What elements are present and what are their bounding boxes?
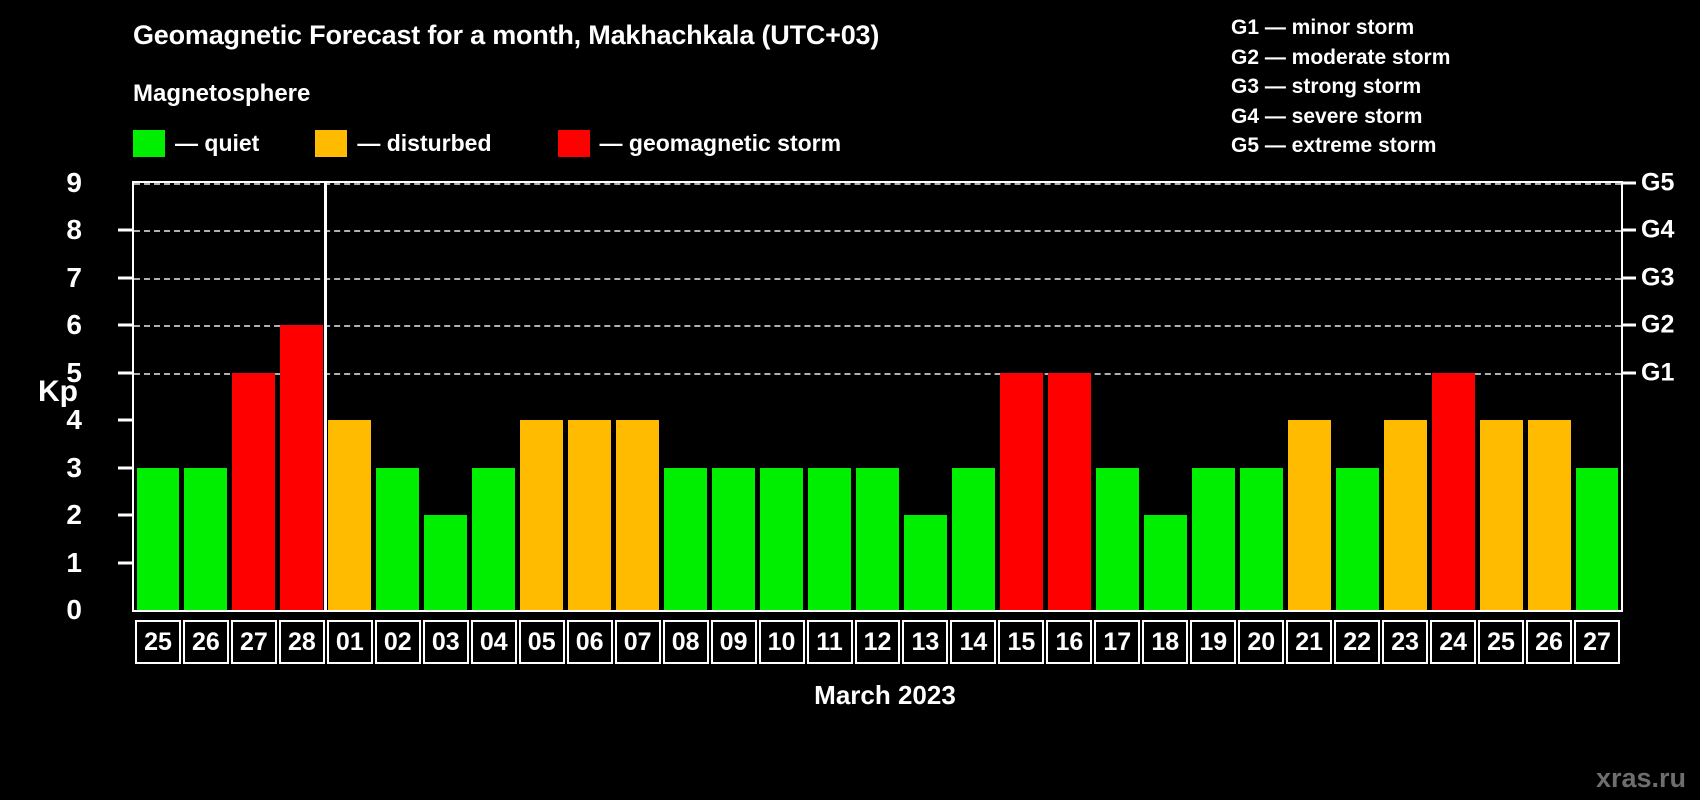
bar-02 <box>376 468 419 610</box>
bar-06 <box>568 420 611 610</box>
g-tick-label-G1: G1 <box>1641 358 1674 387</box>
date-label-3: 28 <box>279 620 325 664</box>
g-tick-label-G4: G4 <box>1641 216 1674 245</box>
date-label-17: 14 <box>950 620 996 664</box>
y-tick-label: 2 <box>42 499 82 531</box>
date-label-10: 07 <box>615 620 661 664</box>
date-label-29: 26 <box>1526 620 1572 664</box>
date-label-21: 18 <box>1142 620 1188 664</box>
legend-label-quiet: — quiet <box>175 130 259 157</box>
bar-05 <box>520 420 563 610</box>
bar-01 <box>328 420 371 610</box>
date-label-13: 10 <box>759 620 805 664</box>
y-tick-label: 0 <box>42 594 82 626</box>
magnetosphere-legend: — quiet — disturbed — geomagnetic storm <box>133 128 841 158</box>
bar-18 <box>1144 515 1187 610</box>
date-label-5: 02 <box>375 620 421 664</box>
y-tick-label: 1 <box>42 547 82 579</box>
y-tick-label: 9 <box>42 167 82 199</box>
bar-28 <box>280 325 323 610</box>
g-tick-mark <box>1623 229 1636 232</box>
y-tick-mark <box>118 419 132 422</box>
bar-07 <box>616 420 659 610</box>
gscale-legend-line: G5 — extreme storm <box>1231 131 1450 161</box>
x-axis-date-labels: 2526272801020304050607080910111213141516… <box>132 620 1623 664</box>
legend-label-disturbed: — disturbed <box>357 130 491 157</box>
date-label-30: 27 <box>1574 620 1620 664</box>
bar-17 <box>1096 468 1139 610</box>
y-tick-label: 3 <box>42 452 82 484</box>
date-label-14: 11 <box>807 620 853 664</box>
date-label-25: 22 <box>1334 620 1380 664</box>
bar-03 <box>424 515 467 610</box>
gscale-legend-line: G1 — minor storm <box>1231 13 1450 43</box>
y-tick-label: 5 <box>42 357 82 389</box>
date-label-18: 15 <box>998 620 1044 664</box>
page-title: Geomagnetic Forecast for a month, Makhac… <box>133 20 879 51</box>
date-label-28: 25 <box>1478 620 1524 664</box>
bar-22 <box>1336 468 1379 610</box>
g-tick-label-G5: G5 <box>1641 169 1674 198</box>
bar-14 <box>952 468 995 610</box>
g-tick-mark <box>1623 371 1636 374</box>
bar-10 <box>760 468 803 610</box>
date-label-23: 20 <box>1238 620 1284 664</box>
y-tick-label: 6 <box>42 309 82 341</box>
x-axis-title: March 2023 <box>0 680 1700 711</box>
bar-21 <box>1288 420 1331 610</box>
g-tick-label-G3: G3 <box>1641 263 1674 292</box>
bar-25 <box>137 468 180 610</box>
bar-25 <box>1480 420 1523 610</box>
plot-area <box>132 181 1623 612</box>
y-tick-mark <box>118 276 132 279</box>
g-tick-mark <box>1623 276 1636 279</box>
date-label-2: 27 <box>231 620 277 664</box>
legend-swatch-quiet-icon <box>133 130 165 157</box>
bar-19 <box>1192 468 1235 610</box>
legend-heading: Magnetosphere <box>133 80 310 108</box>
bar-26 <box>1528 420 1571 610</box>
y-tick-mark <box>118 466 132 469</box>
date-label-16: 13 <box>902 620 948 664</box>
bar-26 <box>184 468 227 610</box>
bar-12 <box>856 468 899 610</box>
date-label-12: 09 <box>711 620 757 664</box>
date-label-26: 23 <box>1382 620 1428 664</box>
y-tick-mark <box>118 561 132 564</box>
bar-27 <box>232 373 275 610</box>
y-tick-label: 4 <box>42 404 82 436</box>
date-label-11: 08 <box>663 620 709 664</box>
bar-08 <box>664 468 707 610</box>
date-label-9: 06 <box>567 620 613 664</box>
bars-layer <box>134 183 1621 610</box>
bar-20 <box>1240 468 1283 610</box>
geomagnetic-forecast-chart: Geomagnetic Forecast for a month, Makhac… <box>0 0 1700 800</box>
gscale-legend: G1 — minor storm G2 — moderate storm G3 … <box>1231 13 1450 161</box>
date-label-7: 04 <box>471 620 517 664</box>
watermark: xras.ru <box>1596 763 1686 794</box>
date-label-20: 17 <box>1094 620 1140 664</box>
date-label-4: 01 <box>327 620 373 664</box>
g-tick-mark <box>1623 182 1636 185</box>
legend-item-storm: — geomagnetic storm <box>558 130 842 157</box>
legend-label-storm: — geomagnetic storm <box>600 130 842 157</box>
y-tick-label: 7 <box>42 262 82 294</box>
y-tick-mark <box>118 229 132 232</box>
date-label-0: 25 <box>135 620 181 664</box>
bar-04 <box>472 468 515 610</box>
date-label-15: 12 <box>855 620 901 664</box>
y-tick-mark <box>118 514 132 517</box>
date-label-27: 24 <box>1430 620 1476 664</box>
date-label-24: 21 <box>1286 620 1332 664</box>
bar-24 <box>1432 373 1475 610</box>
y-tick-mark <box>118 371 132 374</box>
legend-swatch-storm-icon <box>558 130 590 157</box>
date-label-8: 05 <box>519 620 565 664</box>
plot-inner <box>134 183 1621 610</box>
y-tick-mark <box>118 324 132 327</box>
bar-09 <box>712 468 755 610</box>
gscale-legend-line: G4 — severe storm <box>1231 102 1450 132</box>
legend-swatch-disturbed-icon <box>315 130 347 157</box>
y-tick-label: 8 <box>42 214 82 246</box>
bar-23 <box>1384 420 1427 610</box>
bar-15 <box>1000 373 1043 610</box>
gscale-legend-line: G3 — strong storm <box>1231 72 1450 102</box>
bar-13 <box>904 515 947 610</box>
bar-27 <box>1576 468 1619 610</box>
date-label-6: 03 <box>423 620 469 664</box>
date-label-1: 26 <box>183 620 229 664</box>
bar-16 <box>1048 373 1091 610</box>
date-label-19: 16 <box>1046 620 1092 664</box>
legend-item-quiet: — quiet <box>133 130 259 157</box>
bar-11 <box>808 468 851 610</box>
g-tick-mark <box>1623 324 1636 327</box>
date-label-22: 19 <box>1190 620 1236 664</box>
legend-item-disturbed: — disturbed <box>315 130 491 157</box>
gscale-legend-line: G2 — moderate storm <box>1231 43 1450 73</box>
g-tick-label-G2: G2 <box>1641 311 1674 340</box>
